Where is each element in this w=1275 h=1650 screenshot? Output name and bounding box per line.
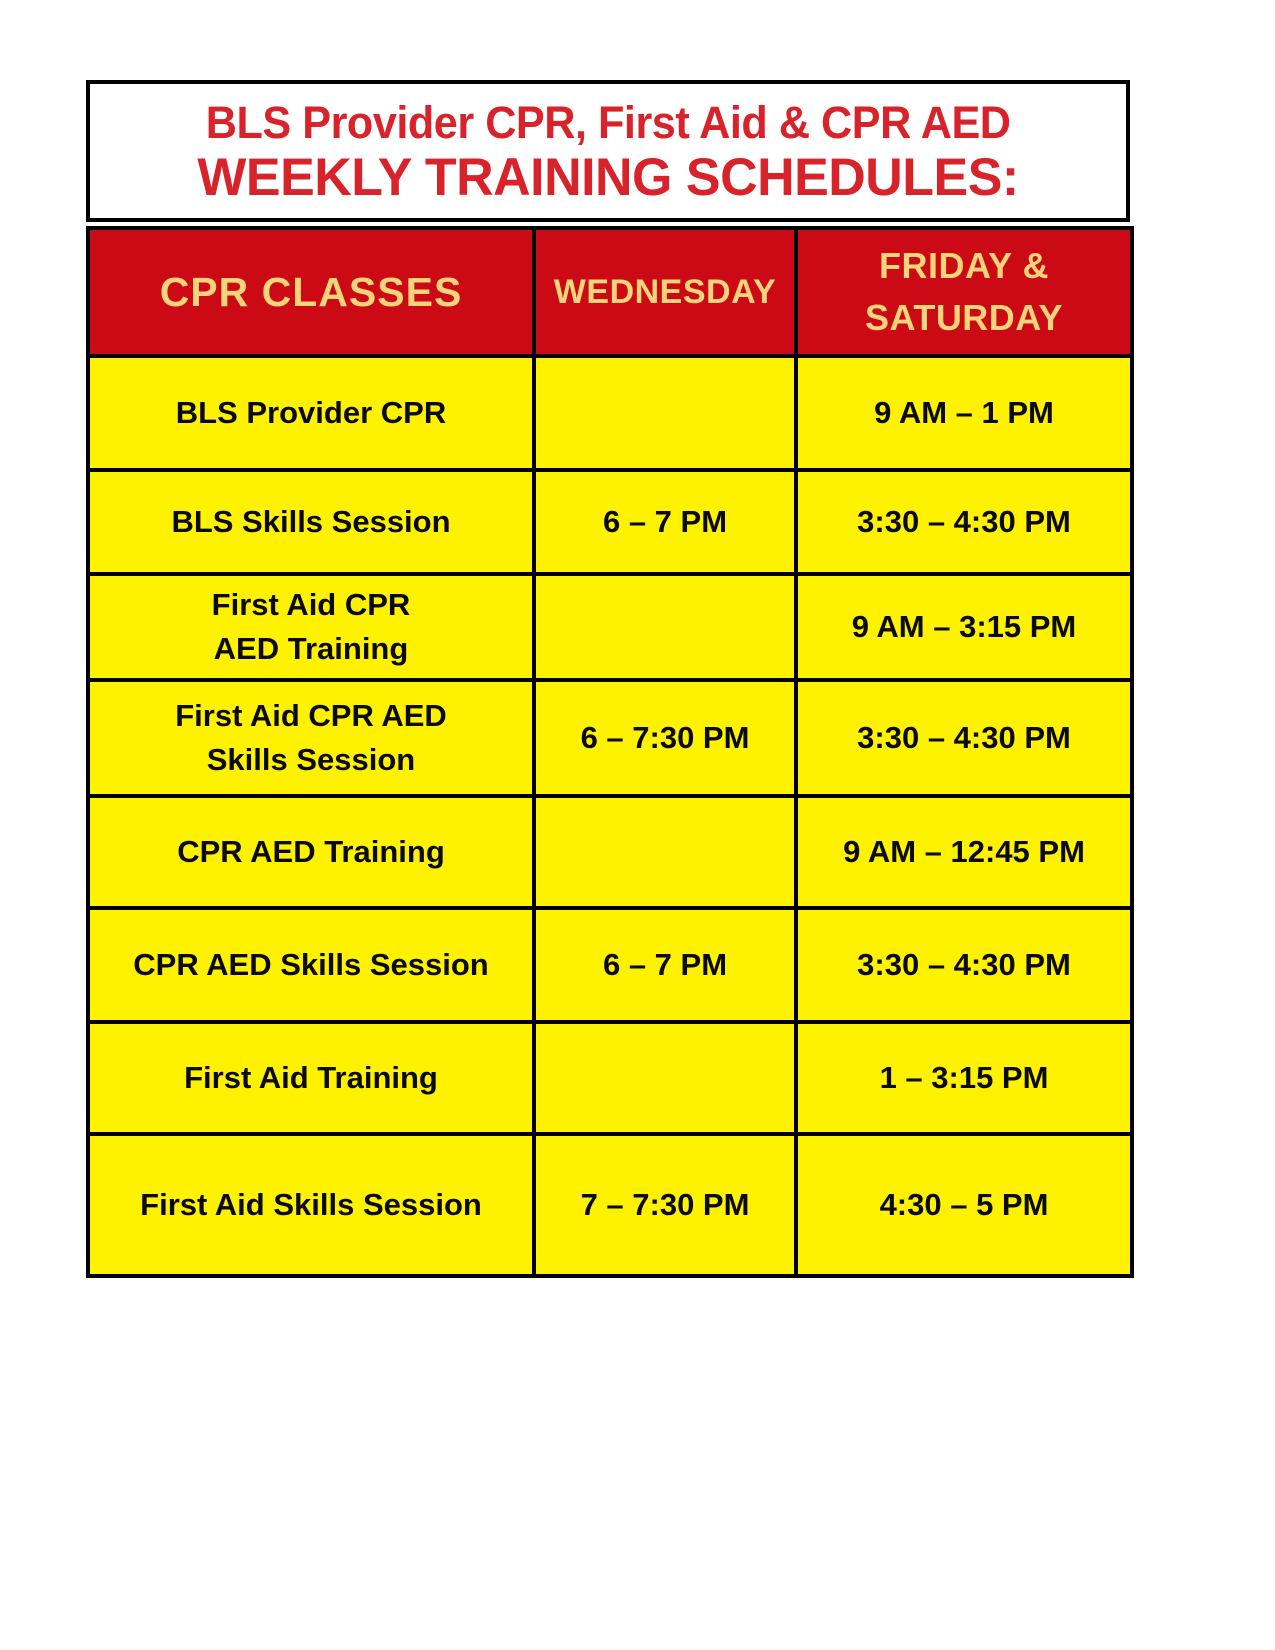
column-header-friday-saturday-line-1: FRIDAY &: [879, 245, 1049, 286]
cell-friday-saturday-time: 1 – 3:15 PM: [796, 1022, 1132, 1134]
page-title-line-1: BLS Provider CPR, First Aid & CPR AED: [206, 97, 1011, 149]
cell-class-name: First Aid CPR AED Skills Session: [88, 680, 534, 796]
table-header-row: CPR CLASSES WEDNESDAY FRIDAY & SATURDAY: [88, 228, 1132, 356]
cell-wednesday-time: [534, 574, 796, 680]
cell-friday-saturday-time: 9 AM – 1 PM: [796, 356, 1132, 470]
cell-wednesday-time: [534, 356, 796, 470]
training-schedule-table: CPR CLASSES WEDNESDAY FRIDAY & SATURDAY …: [86, 226, 1134, 1278]
cell-wednesday-time: 6 – 7:30 PM: [534, 680, 796, 796]
cell-friday-saturday-time: 3:30 – 4:30 PM: [796, 470, 1132, 574]
cell-class-name: First Aid Skills Session: [88, 1134, 534, 1276]
table-row: First Aid CPR AED Training 9 AM – 3:15 P…: [88, 574, 1132, 680]
cell-friday-saturday-time: 9 AM – 3:15 PM: [796, 574, 1132, 680]
class-name-line-1: First Aid CPR: [212, 587, 411, 622]
class-name-line-1: First Aid Skills Session: [140, 1187, 482, 1222]
class-name-line-1: CPR AED Skills Session: [133, 947, 488, 982]
table-row: First Aid Skills Session 7 – 7:30 PM 4:3…: [88, 1134, 1132, 1276]
table-row: BLS Skills Session 6 – 7 PM 3:30 – 4:30 …: [88, 470, 1132, 574]
class-name-line-1: First Aid CPR AED: [175, 698, 447, 733]
column-header-friday-saturday: FRIDAY & SATURDAY: [796, 228, 1132, 356]
column-header-wednesday: WEDNESDAY: [534, 228, 796, 356]
cell-friday-saturday-time: 3:30 – 4:30 PM: [796, 908, 1132, 1022]
table-row: CPR AED Training 9 AM – 12:45 PM: [88, 796, 1132, 908]
cell-wednesday-time: 6 – 7 PM: [534, 908, 796, 1022]
cell-friday-saturday-time: 4:30 – 5 PM: [796, 1134, 1132, 1276]
cell-class-name: First Aid CPR AED Training: [88, 574, 534, 680]
cell-class-name: First Aid Training: [88, 1022, 534, 1134]
cell-class-name: BLS Provider CPR: [88, 356, 534, 470]
cell-class-name: CPR AED Skills Session: [88, 908, 534, 1022]
table-row: CPR AED Skills Session 6 – 7 PM 3:30 – 4…: [88, 908, 1132, 1022]
cell-wednesday-time: 6 – 7 PM: [534, 470, 796, 574]
table-row: First Aid Training 1 – 3:15 PM: [88, 1022, 1132, 1134]
class-name-line-1: BLS Provider CPR: [176, 395, 446, 430]
cell-friday-saturday-time: 3:30 – 4:30 PM: [796, 680, 1132, 796]
class-name-line-1: First Aid Training: [184, 1060, 438, 1095]
class-name-line-1: CPR AED Training: [177, 834, 445, 869]
page-title-line-2: WEEKLY TRAINING SCHEDULES:: [197, 149, 1018, 207]
class-name-line-1: BLS Skills Session: [171, 504, 450, 539]
schedule-poster: BLS Provider CPR, First Aid & CPR AED WE…: [0, 0, 1275, 1650]
column-header-cpr-classes: CPR CLASSES: [88, 228, 534, 356]
table-row: BLS Provider CPR 9 AM – 1 PM: [88, 356, 1132, 470]
cell-wednesday-time: [534, 796, 796, 908]
cell-wednesday-time: [534, 1022, 796, 1134]
column-header-friday-saturday-line-2: SATURDAY: [798, 292, 1130, 344]
cell-class-name: BLS Skills Session: [88, 470, 534, 574]
table-body: BLS Provider CPR 9 AM – 1 PM BLS Skills …: [88, 356, 1132, 1276]
class-name-line-2: AED Training: [90, 627, 532, 671]
poster-title-box: BLS Provider CPR, First Aid & CPR AED WE…: [86, 80, 1130, 222]
class-name-line-2: Skills Session: [90, 738, 532, 782]
cell-friday-saturday-time: 9 AM – 12:45 PM: [796, 796, 1132, 908]
cell-wednesday-time: 7 – 7:30 PM: [534, 1134, 796, 1276]
table-row: First Aid CPR AED Skills Session 6 – 7:3…: [88, 680, 1132, 796]
cell-class-name: CPR AED Training: [88, 796, 534, 908]
table-header: CPR CLASSES WEDNESDAY FRIDAY & SATURDAY: [88, 228, 1132, 356]
